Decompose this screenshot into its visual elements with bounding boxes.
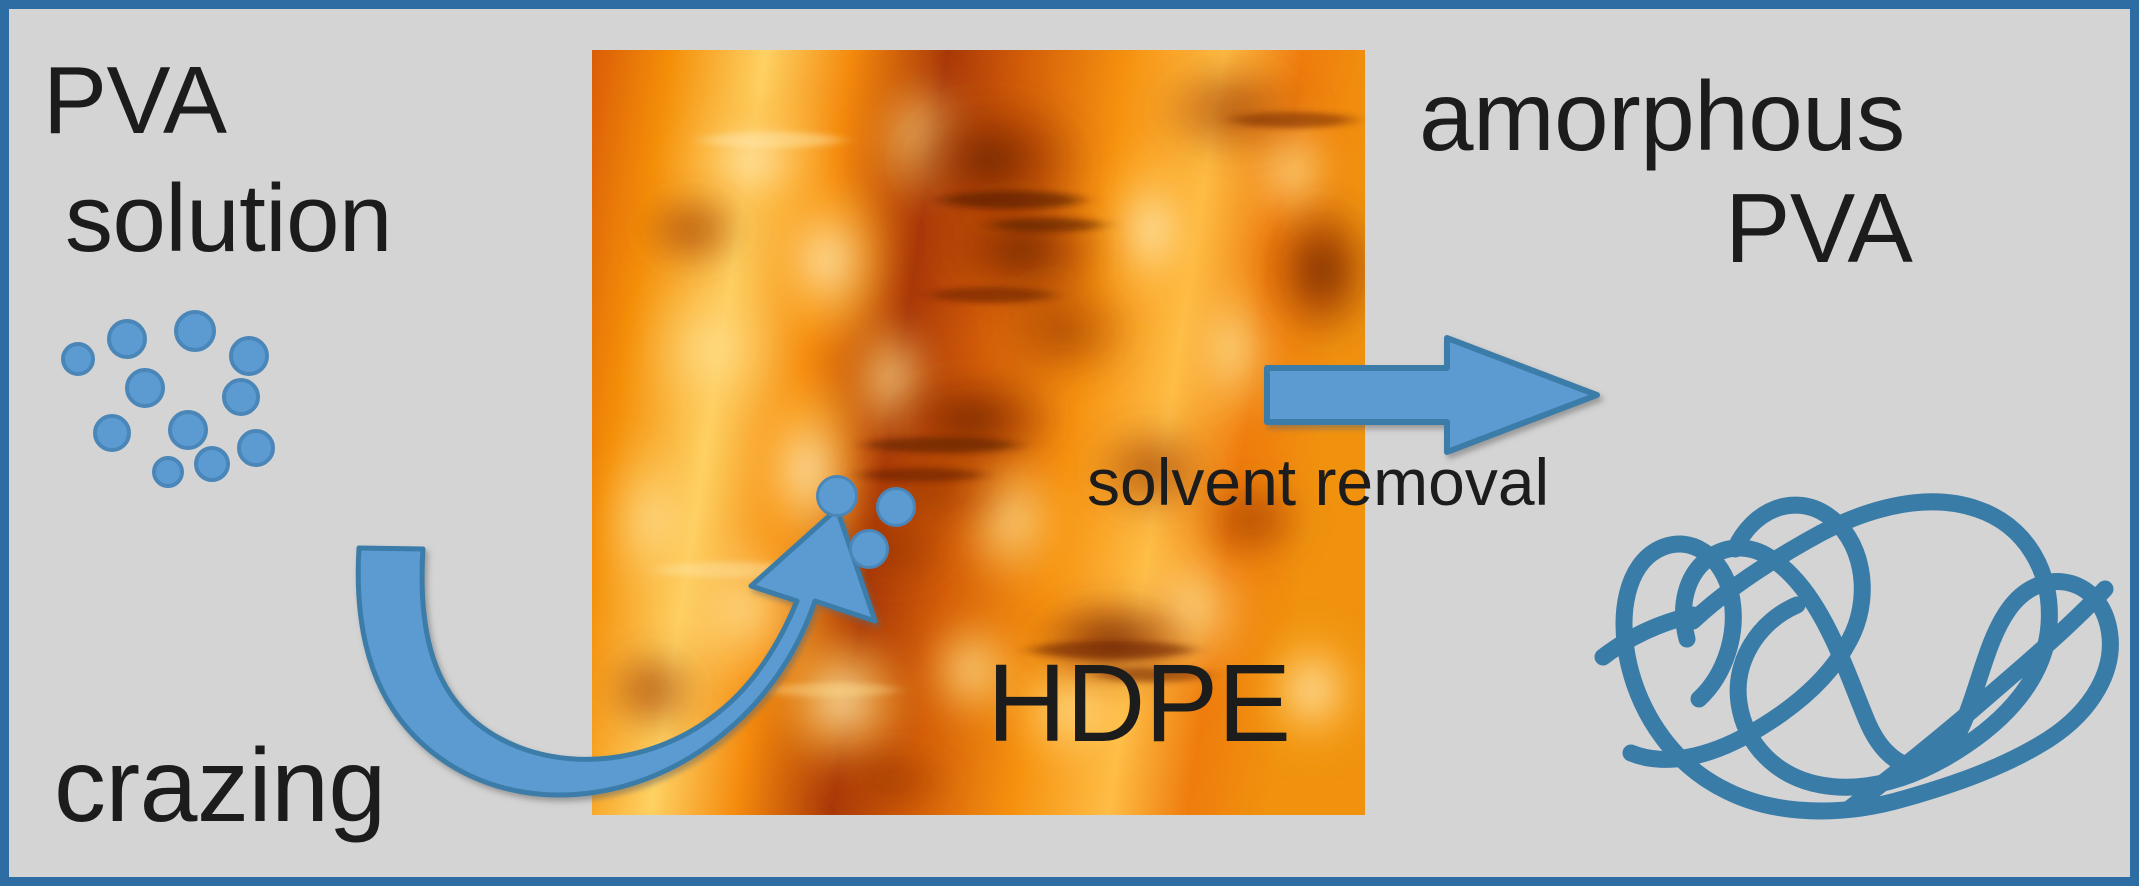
migrating-solute-dot (876, 487, 916, 527)
solute-dot (125, 368, 165, 408)
graphical-abstract: PVA solution crazing amorphous PVA solve… (0, 0, 2139, 886)
solute-dot (229, 336, 269, 376)
solute-dot (61, 342, 95, 376)
label-pva-right: PVA (1725, 179, 1912, 277)
label-crazing: crazing (54, 734, 386, 838)
label-pva-solution-line2: solution (65, 171, 392, 267)
label-amorphous: amorphous (1419, 67, 1905, 165)
solute-dot (237, 429, 275, 467)
solute-dot (93, 414, 131, 452)
solute-dot (222, 378, 260, 416)
amorphous-pva-random-coil (1603, 502, 2110, 811)
label-hdpe: HDPE (987, 649, 1291, 759)
solute-dot (152, 456, 184, 488)
solute-dot (168, 410, 208, 450)
migrating-solute-dot (849, 529, 889, 569)
label-pva-solution-line1: PVA (43, 53, 226, 149)
migrating-solute-dot (816, 475, 858, 517)
solute-dot (174, 310, 216, 352)
solute-dot (194, 446, 230, 482)
solute-dot (107, 319, 147, 359)
label-solvent-removal: solvent removal (1087, 449, 1549, 515)
